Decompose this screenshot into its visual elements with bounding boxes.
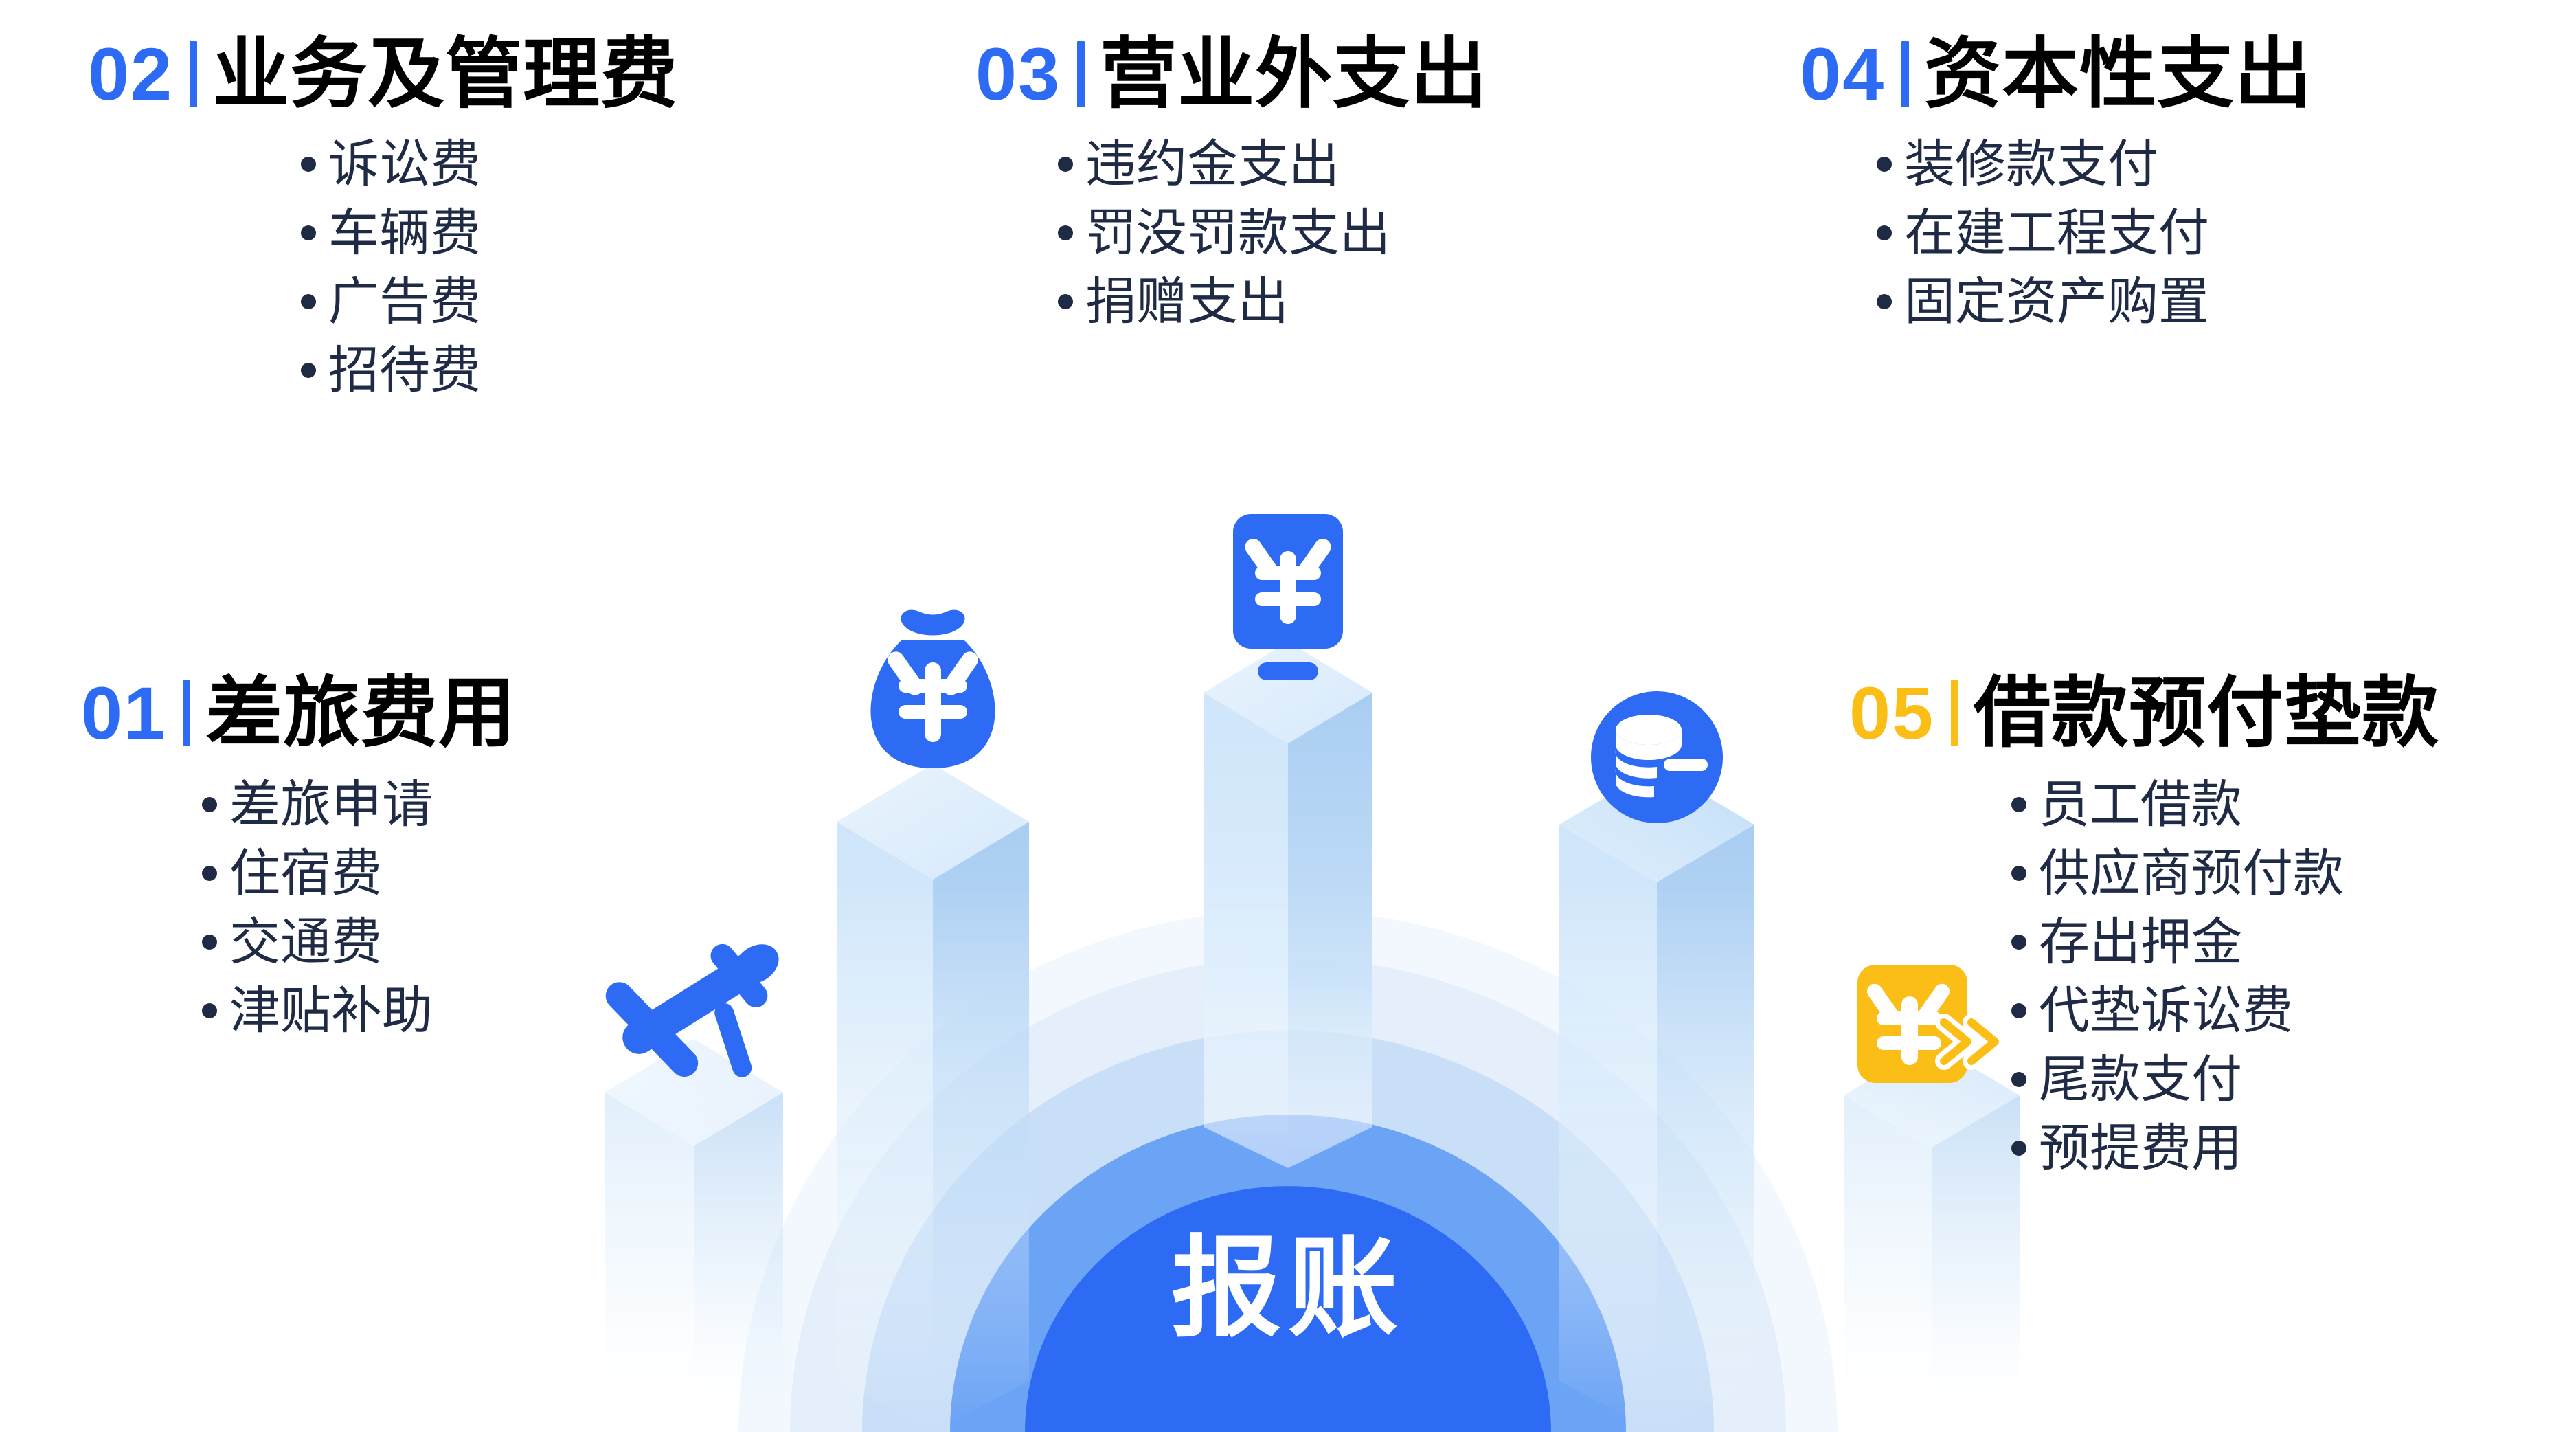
bullet-dot bbox=[1877, 225, 1892, 240]
bullet-dot bbox=[301, 157, 316, 172]
group-03-list: 违约金支出 罚没罚款支出 捐赠支出 bbox=[1058, 139, 1488, 327]
group-02-divider bbox=[190, 41, 197, 107]
list-item-label: 交通费 bbox=[229, 917, 382, 967]
group-02-title: 业务及管理费 bbox=[212, 36, 678, 113]
list-item: 代垫诉讼费 bbox=[2011, 985, 2439, 1036]
bullet-dot bbox=[2011, 1141, 2026, 1156]
bullet-dot bbox=[2011, 1003, 2026, 1018]
bullet-dot bbox=[1058, 294, 1073, 309]
list-item-label: 住宿费 bbox=[229, 848, 382, 899]
list-item-label: 广告费 bbox=[328, 276, 481, 327]
group-04-number: 04 bbox=[1800, 37, 1885, 111]
pillar-4 bbox=[1559, 767, 1754, 1432]
list-item-label: 捐赠支出 bbox=[1085, 276, 1289, 327]
group-05-title: 借款预付垫款 bbox=[1974, 675, 2439, 752]
group-01-divider bbox=[183, 680, 190, 746]
bullet-dot bbox=[202, 935, 217, 950]
list-item-label: 固定资产购置 bbox=[1904, 276, 2209, 327]
group-03-divider bbox=[1077, 41, 1085, 107]
list-item-label: 代垫诉讼费 bbox=[2039, 985, 2293, 1036]
list-item: 招待费 bbox=[301, 345, 678, 396]
bullet-dot bbox=[2011, 935, 2026, 950]
group-03-title: 营业外支出 bbox=[1100, 36, 1488, 113]
pillar-1 bbox=[605, 1039, 783, 1432]
list-item-label: 差旅申请 bbox=[229, 779, 433, 830]
list-item-label: 在建工程支付 bbox=[1904, 208, 2209, 258]
list-item-label: 车辆费 bbox=[328, 208, 481, 258]
bullet-dot bbox=[1058, 225, 1073, 240]
list-item: 津贴补助 bbox=[202, 985, 516, 1036]
bullet-dot bbox=[202, 866, 217, 881]
bullet-dot bbox=[2011, 797, 2026, 812]
group-05-heading: 05 借款预付垫款 bbox=[1849, 675, 2439, 752]
group-04-title: 资本性支出 bbox=[1924, 36, 2312, 113]
bullet-dot bbox=[2011, 1072, 2026, 1087]
list-item: 车辆费 bbox=[301, 208, 678, 258]
list-item: 供应商预付款 bbox=[2011, 848, 2439, 899]
bullet-dot bbox=[202, 1003, 217, 1018]
list-item: 罚没罚款支出 bbox=[1058, 208, 1488, 258]
list-item-label: 津贴补助 bbox=[229, 985, 433, 1036]
group-02-number: 02 bbox=[88, 37, 173, 111]
list-item: 违约金支出 bbox=[1058, 139, 1488, 190]
group-01-list: 差旅申请 住宿费 交通费 津贴补助 bbox=[202, 779, 516, 1036]
group-03: 03 营业外支出 违约金支出 罚没罚款支出 捐赠支出 bbox=[975, 36, 1488, 327]
bullet-dot bbox=[301, 363, 316, 378]
pillar-2 bbox=[837, 764, 1029, 1432]
group-02-heading: 02 业务及管理费 bbox=[88, 36, 678, 113]
pillar-3 bbox=[1204, 642, 1372, 1168]
bullet-dot bbox=[1058, 157, 1073, 172]
list-item: 广告费 bbox=[301, 276, 678, 327]
group-02: 02 业务及管理费 诉讼费 车辆费 广告费 招待费 bbox=[88, 36, 678, 396]
list-item-label: 预提费用 bbox=[2039, 1123, 2242, 1174]
list-item-label: 招待费 bbox=[328, 345, 481, 396]
group-05: 05 借款预付垫款 员工借款 供应商预付款 存出押金 代垫诉讼费 尾款支付 预提… bbox=[1849, 675, 2439, 1174]
bullet-dot bbox=[2011, 866, 2026, 881]
list-item-label: 诉讼费 bbox=[328, 139, 481, 190]
group-01-number: 01 bbox=[81, 676, 166, 750]
group-04-divider bbox=[1901, 41, 1909, 107]
list-item-label: 罚没罚款支出 bbox=[1085, 208, 1390, 258]
center-label: 报账 bbox=[1171, 1227, 1405, 1350]
group-01: 01 差旅费用 差旅申请 住宿费 交通费 津贴补助 bbox=[81, 675, 516, 1036]
list-item-label: 供应商预付款 bbox=[2039, 848, 2344, 899]
list-item: 在建工程支付 bbox=[1877, 208, 2312, 258]
list-item: 捐赠支出 bbox=[1058, 276, 1488, 327]
list-item: 住宿费 bbox=[202, 848, 516, 899]
list-item: 差旅申请 bbox=[202, 779, 516, 830]
bullet-dot bbox=[1877, 294, 1892, 309]
group-03-number: 03 bbox=[975, 37, 1061, 111]
bullet-dot bbox=[1877, 157, 1892, 172]
list-item: 存出押金 bbox=[2011, 917, 2439, 967]
group-01-heading: 01 差旅费用 bbox=[81, 675, 516, 752]
bullet-dot bbox=[202, 797, 217, 812]
list-item-label: 违约金支出 bbox=[1085, 139, 1340, 190]
list-item: 预提费用 bbox=[2011, 1123, 2439, 1174]
group-01-title: 差旅费用 bbox=[205, 675, 516, 752]
group-03-heading: 03 营业外支出 bbox=[975, 36, 1488, 113]
list-item: 交通费 bbox=[202, 917, 516, 967]
list-item-label: 员工借款 bbox=[2039, 779, 2242, 830]
bullet-dot bbox=[301, 225, 316, 240]
group-05-divider bbox=[1951, 680, 1958, 746]
list-item: 员工借款 bbox=[2011, 779, 2439, 830]
group-05-list: 员工借款 供应商预付款 存出押金 代垫诉讼费 尾款支付 预提费用 bbox=[2011, 779, 2439, 1174]
list-item: 诉讼费 bbox=[301, 139, 678, 190]
list-item: 尾款支付 bbox=[2011, 1054, 2439, 1105]
group-05-number: 05 bbox=[1849, 676, 1934, 750]
coin-stack-icon bbox=[1591, 691, 1723, 823]
group-04-heading: 04 资本性支出 bbox=[1800, 36, 2312, 113]
group-02-list: 诉讼费 车辆费 广告费 招待费 bbox=[301, 139, 678, 396]
list-item-label: 存出押金 bbox=[2039, 917, 2242, 967]
list-item-label: 装修款支付 bbox=[1904, 139, 2158, 190]
group-04: 04 资本性支出 装修款支付 在建工程支付 固定资产购置 bbox=[1800, 36, 2312, 327]
list-item: 固定资产购置 bbox=[1877, 276, 2312, 327]
list-item: 装修款支付 bbox=[1877, 139, 2312, 190]
bullet-dot bbox=[301, 294, 316, 309]
list-item-label: 尾款支付 bbox=[2039, 1054, 2242, 1105]
group-04-list: 装修款支付 在建工程支付 固定资产购置 bbox=[1877, 139, 2312, 327]
money-bag-icon bbox=[870, 610, 995, 768]
